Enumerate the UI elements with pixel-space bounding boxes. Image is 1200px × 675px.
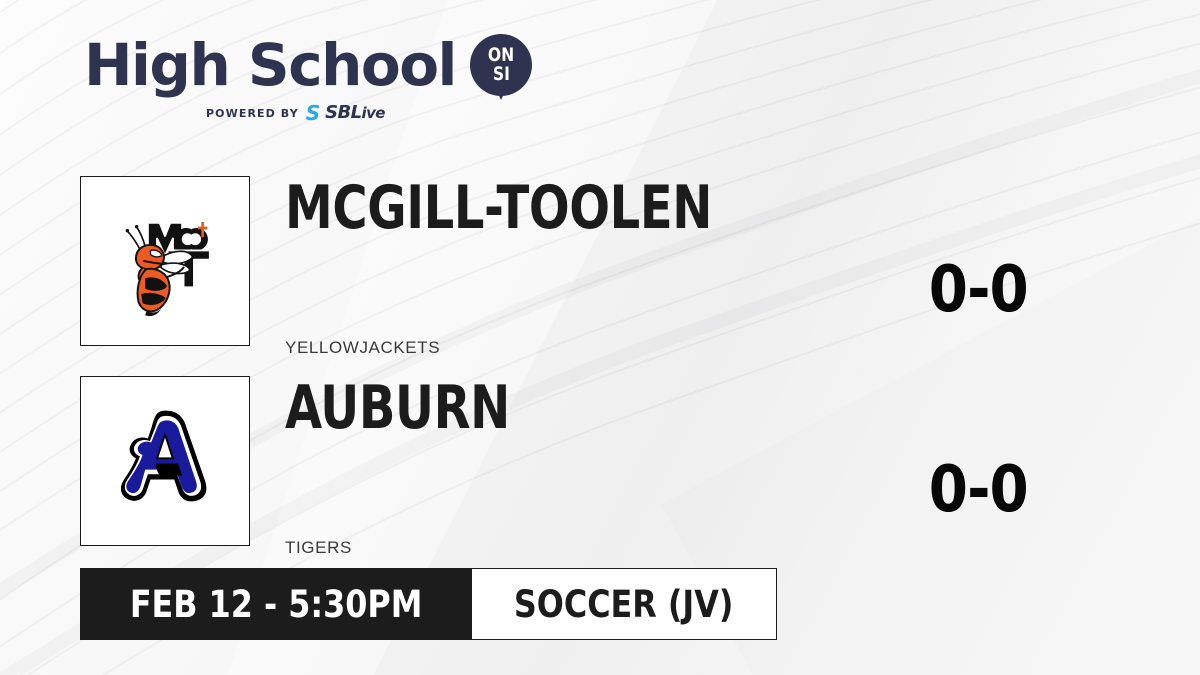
powered-by-label: POWERED BY [206,107,299,120]
game-sport: SOCCER (JV) [514,586,734,623]
team-name-away: AUBURN [285,378,510,438]
team-name-home: MCGILL-TOOLEN [285,178,712,238]
mcgill-toolen-yellowjackets-logo-icon [99,195,231,327]
team-logo-home [80,176,250,346]
sblive-s-mark-icon: S [306,103,318,123]
sblive-wordmark: SBLive [325,104,385,122]
pin-label: ON SI [470,34,532,96]
sblive-wordmark-upper: SBL [325,102,361,123]
team-mascot-away: TIGERS [285,538,352,558]
team-mascot-home: YELLOWJACKETS [285,338,440,358]
team-record-away: 0-0 [929,458,1028,522]
on-si-pin-icon: ON SI [470,34,532,96]
game-datetime: FEB 12 - 5:30PM [130,586,423,623]
sblive-wordmark-lower: ive [362,104,385,122]
game-info-banner: FEB 12 - 5:30PM SOCCER (JV) [80,568,777,640]
team-logo-away [80,376,250,546]
page-title: High School [84,36,456,94]
matchup-graphic: High School ON SI POWERED BY S SBLive [0,0,1200,675]
game-sport-block: SOCCER (JV) [472,568,776,640]
team-record-home: 0-0 [929,258,1028,322]
pin-label-bottom: SI [492,66,509,83]
powered-by-row: POWERED BY S SBLive [206,103,532,123]
brand-title-row: High School ON SI [84,34,532,96]
brand-lockup: High School ON SI POWERED BY S SBLive [84,34,532,123]
auburn-tigers-logo-icon [99,395,231,527]
game-datetime-block: FEB 12 - 5:30PM [80,568,472,640]
